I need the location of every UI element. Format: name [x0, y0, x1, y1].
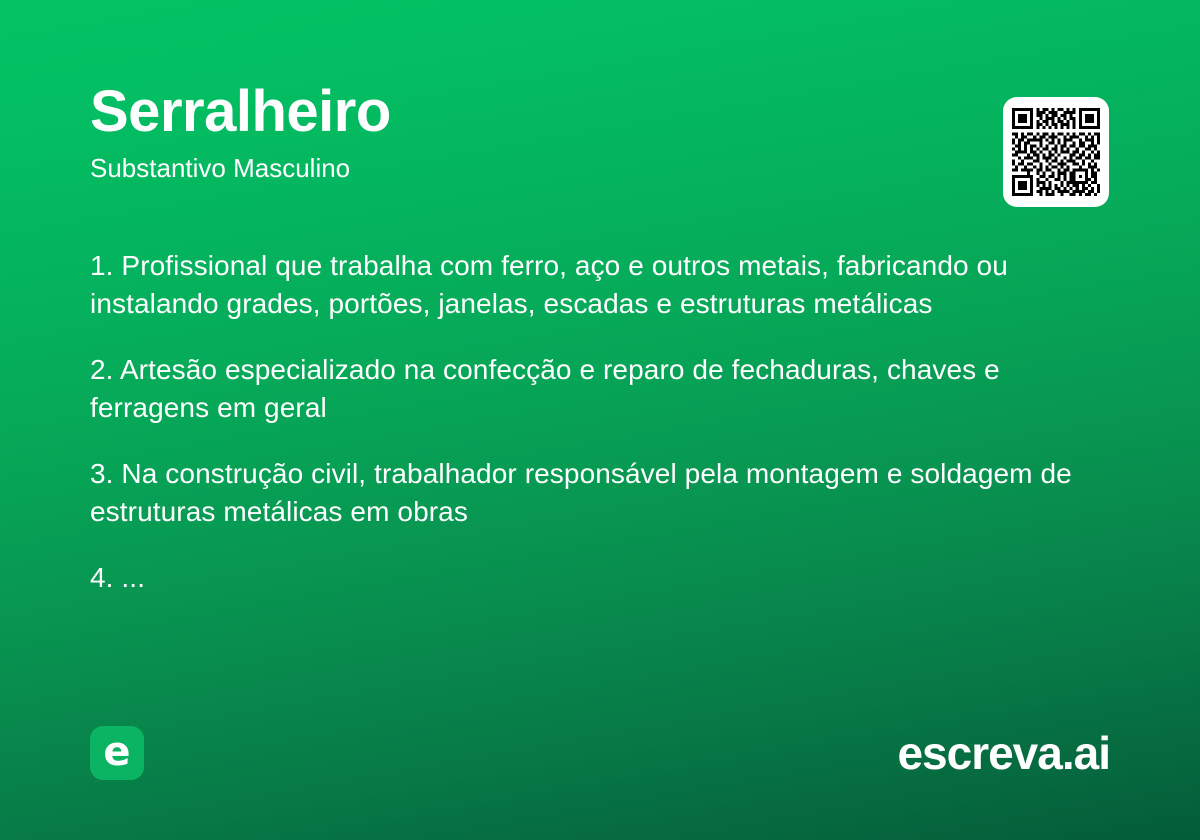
brand-logo-badge: e — [90, 726, 144, 780]
definition-card: Serralheiro Substantivo Masculino — [0, 0, 1200, 840]
definition-item: 2. Artesão especializado na confecção e … — [90, 351, 1120, 427]
brand-logo-letter: e — [103, 732, 130, 772]
page-title: Serralheiro — [90, 82, 1110, 143]
definition-item: 3. Na construção civil, trabalhador resp… — [90, 455, 1120, 531]
definition-item: 4. ... — [90, 559, 1120, 597]
card-header: Serralheiro Substantivo Masculino — [90, 82, 1110, 184]
definition-item: 1. Profissional que trabalha com ferro, … — [90, 247, 1120, 323]
qr-code-card[interactable] — [1003, 97, 1109, 207]
brand-wordmark: escreva.ai — [897, 726, 1110, 780]
card-footer: e escreva.ai — [90, 726, 1110, 780]
definition-list: 1. Profissional que trabalha com ferro, … — [90, 247, 1120, 597]
word-class-label: Substantivo Masculino — [90, 153, 1110, 184]
qr-code-icon — [1012, 106, 1100, 198]
